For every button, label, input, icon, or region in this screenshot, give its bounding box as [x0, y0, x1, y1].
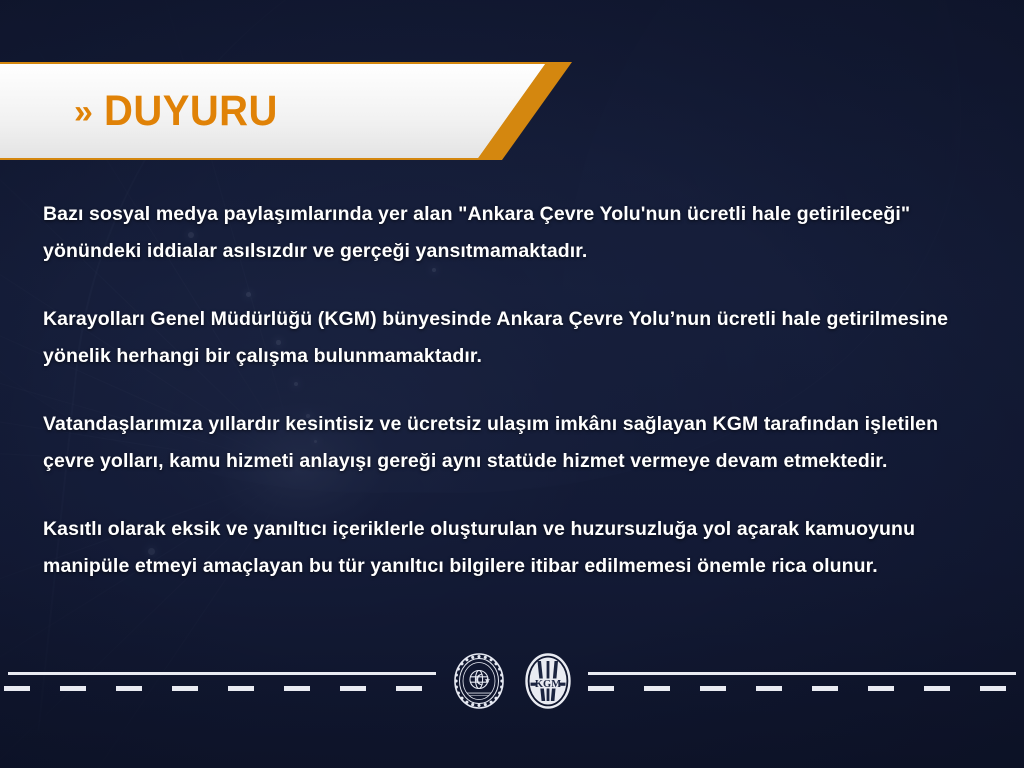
road-dashed-line-left: [4, 686, 436, 691]
announcement-paragraph: Kasıtlı olarak eksik ve yanıltıcı içerik…: [43, 511, 973, 585]
kgm-logo-text: KGM: [535, 679, 561, 690]
footer: KGM: [0, 648, 1024, 768]
kgm-logo-icon: KGM: [524, 652, 572, 710]
double-chevron-right-icon: »: [74, 95, 91, 129]
page-title-text: DUYURU: [104, 87, 278, 136]
page-title: » DUYURU: [74, 62, 291, 160]
header-banner: » DUYURU: [0, 62, 600, 160]
announcement-paragraph: Bazı sosyal medya paylaşımlarında yer al…: [43, 196, 973, 270]
ministry-seal-icon: [452, 652, 506, 710]
announcement-slide: » DUYURU Bazı sosyal medya paylaşımların…: [0, 0, 1024, 768]
announcement-body: Bazı sosyal medya paylaşımlarında yer al…: [43, 196, 973, 585]
announcement-paragraph: Vatandaşlarımıza yıllardır kesintisiz ve…: [43, 406, 973, 480]
road-dashed-line-right: [588, 686, 1020, 691]
road-solid-line-right: [588, 672, 1016, 675]
road-solid-line-left: [8, 672, 436, 675]
announcement-paragraph: Karayolları Genel Müdürlüğü (KGM) bünyes…: [43, 301, 973, 375]
footer-logos: KGM: [452, 652, 572, 710]
